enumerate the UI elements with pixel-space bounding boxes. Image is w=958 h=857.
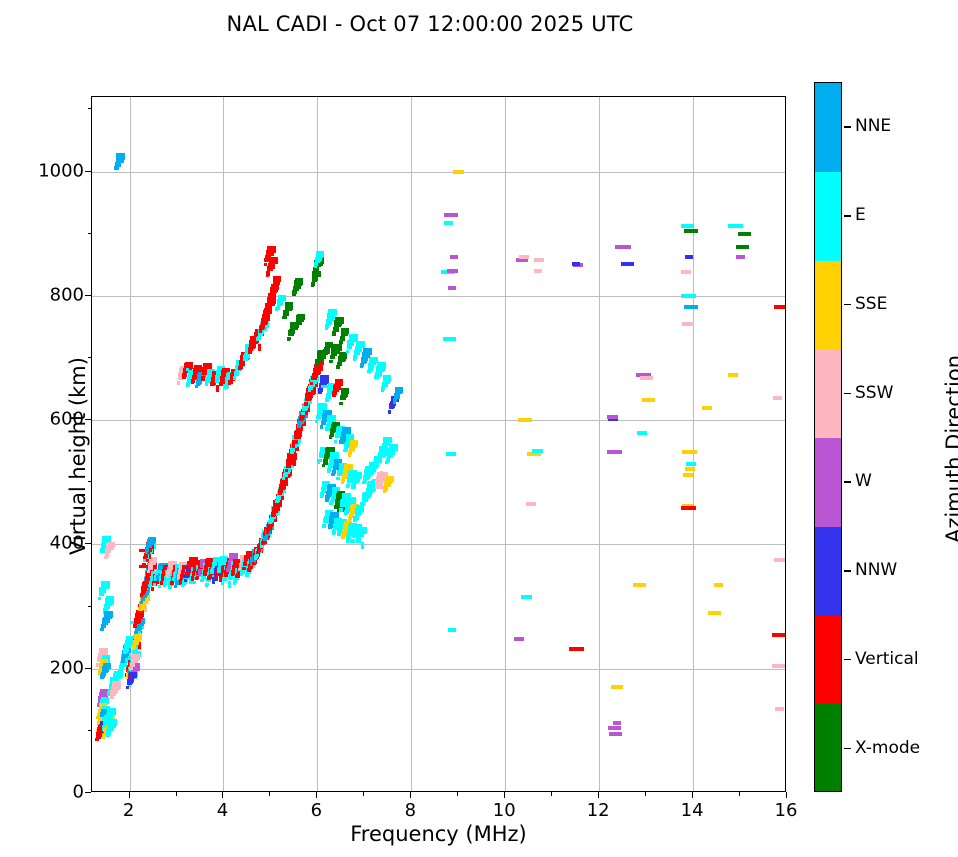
data-point-e	[728, 224, 743, 228]
data-point-e	[353, 518, 357, 522]
data-point-vertical	[135, 613, 143, 619]
data-point-sse	[728, 373, 738, 377]
data-point-nne	[101, 628, 104, 631]
x-tick-minor	[645, 792, 646, 796]
colorbar-tick	[844, 304, 851, 306]
data-point-e	[200, 579, 204, 582]
data-point-e	[337, 532, 341, 536]
data-point-nne	[104, 611, 113, 618]
data-point-e	[372, 468, 376, 471]
data-point-nne	[174, 585, 177, 588]
data-point-e	[388, 448, 395, 454]
data-point-ssw	[774, 558, 785, 562]
y-tick-minor	[88, 108, 92, 109]
data-point-w	[447, 269, 458, 273]
data-point-e	[357, 531, 364, 537]
data-point-vertical	[293, 459, 296, 466]
colorbar-segment-nnw[interactable]	[815, 527, 841, 616]
data-point-e	[254, 555, 258, 559]
data-point-vertical	[229, 380, 233, 384]
data-point-vertical	[271, 291, 274, 294]
gridline-vertical	[505, 97, 506, 791]
x-tick-minor	[363, 792, 364, 796]
data-point-vertical	[258, 344, 261, 351]
data-point-nnw	[129, 672, 137, 678]
data-point-x-mode	[332, 332, 336, 336]
data-point-e	[320, 494, 324, 497]
data-point-ssw	[111, 687, 118, 693]
data-point-e	[681, 294, 696, 298]
data-point-e	[193, 581, 196, 584]
data-point-e	[322, 524, 326, 528]
x-tick-major	[692, 792, 693, 798]
data-point-nne	[140, 601, 143, 604]
data-point-e	[353, 356, 357, 359]
y-tick-major	[85, 668, 91, 669]
data-point-nnw	[621, 262, 634, 266]
colorbar-tick	[844, 215, 851, 217]
colorbar-segment-ssw[interactable]	[815, 349, 841, 438]
y-tick-label: 0	[73, 782, 84, 803]
colorbar-segment-vertical[interactable]	[815, 616, 841, 705]
colorbar-segment-x-mode[interactable]	[815, 704, 841, 792]
gridline-vertical	[317, 97, 318, 791]
data-point-sse	[386, 476, 394, 482]
y-tick-minor	[88, 233, 92, 234]
data-point-e	[244, 354, 249, 359]
colorbar-label-x-mode: X-mode	[855, 738, 920, 758]
data-point-nnw	[184, 579, 187, 582]
colorbar-segment-w[interactable]	[815, 438, 841, 527]
data-point-vertical	[774, 305, 785, 309]
data-point-nne	[325, 498, 329, 502]
data-point-w	[736, 255, 745, 259]
data-point-vertical	[140, 593, 143, 596]
data-point-vertical	[95, 738, 99, 741]
data-point-vertical	[267, 266, 273, 271]
data-point-e	[186, 382, 190, 386]
x-tick-major	[786, 792, 787, 798]
colorbar-segment-e[interactable]	[815, 172, 841, 261]
data-point-e	[330, 500, 334, 504]
data-point-nne	[395, 387, 403, 393]
data-point-sse	[139, 604, 145, 609]
data-point-e	[336, 477, 339, 480]
colorbar-segment-nne[interactable]	[815, 83, 841, 172]
data-point-e	[256, 338, 259, 341]
data-point-x-mode	[339, 402, 342, 405]
data-point-x-mode	[329, 360, 333, 363]
colorbar[interactable]	[814, 82, 842, 792]
data-point-nnw	[126, 686, 129, 689]
data-point-e	[332, 531, 336, 534]
data-point-ssw	[534, 269, 542, 273]
x-tick-label: 6	[311, 800, 322, 821]
data-point-vertical	[274, 505, 278, 509]
data-point-ssw	[534, 258, 544, 262]
colorbar-label-ssw: SSW	[855, 383, 893, 403]
data-point-e	[282, 477, 285, 480]
data-point-vertical	[195, 577, 198, 580]
data-point-nne	[360, 363, 364, 367]
data-point-e	[325, 324, 329, 328]
data-point-e	[346, 484, 350, 487]
data-point-w	[615, 245, 631, 249]
y-tick-minor	[88, 730, 92, 731]
data-point-e	[444, 221, 453, 225]
data-point-e	[386, 460, 389, 463]
data-point-vertical	[216, 385, 219, 392]
data-point-vertical	[247, 568, 251, 572]
data-point-vertical	[182, 375, 186, 379]
data-point-ssw	[526, 502, 536, 506]
data-point-e	[347, 345, 352, 349]
data-point-vertical	[144, 555, 148, 558]
data-point-nne	[102, 668, 108, 673]
x-tick-minor	[551, 792, 552, 796]
data-point-e	[233, 377, 236, 380]
colorbar-tick	[844, 570, 851, 572]
data-point-nnw	[128, 679, 133, 684]
data-point-x-mode	[341, 330, 348, 336]
data-point-e	[99, 587, 106, 592]
data-point-vertical	[280, 482, 284, 486]
data-point-x-mode	[336, 365, 340, 369]
data-point-sse	[642, 398, 655, 402]
gridline-vertical	[693, 97, 694, 791]
data-point-e	[637, 431, 647, 435]
colorbar-label-sse: SSE	[855, 294, 887, 314]
x-tick-major	[410, 792, 411, 798]
data-point-e	[346, 350, 349, 353]
data-point-e	[233, 581, 236, 584]
y-tick-major	[85, 792, 91, 793]
data-point-x-mode	[339, 353, 347, 359]
x-tick-major	[598, 792, 599, 798]
data-point-sse	[682, 450, 697, 454]
data-point-x-mode	[312, 273, 315, 276]
data-point-sse	[349, 448, 354, 452]
data-point-vertical	[239, 360, 245, 365]
data-point-e	[316, 415, 321, 419]
data-point-e	[443, 337, 456, 341]
data-point-e	[276, 497, 280, 501]
data-point-nne	[100, 674, 105, 678]
data-point-e	[686, 462, 696, 466]
colorbar-label-e: E	[855, 205, 866, 225]
data-point-e	[99, 592, 104, 596]
data-point-vertical	[207, 576, 211, 580]
data-point-vertical	[272, 285, 277, 289]
data-point-nne	[116, 155, 124, 161]
data-point-nne	[394, 394, 400, 399]
data-point-e	[334, 440, 337, 443]
data-point-e	[302, 406, 307, 411]
data-point-e	[351, 484, 356, 488]
data-point-vertical	[133, 624, 137, 628]
y-tick-major	[85, 171, 91, 172]
data-point-e	[328, 309, 337, 316]
x-tick-minor	[269, 792, 270, 796]
data-point-e	[290, 448, 294, 452]
data-point-nne	[331, 473, 334, 476]
data-point-vertical	[287, 461, 290, 464]
gridline-horizontal	[92, 669, 785, 670]
data-point-sse	[384, 482, 390, 487]
data-point-e	[368, 363, 374, 368]
data-point-vertical	[264, 311, 268, 315]
data-point-vertical	[294, 435, 297, 438]
data-point-e	[362, 481, 366, 484]
data-point-x-mode	[294, 280, 302, 286]
data-point-nne	[684, 305, 698, 309]
y-tick-label: 200	[50, 657, 84, 678]
data-point-x-mode	[334, 320, 342, 326]
data-point-nne	[363, 348, 372, 355]
data-point-x-mode	[334, 505, 338, 509]
y-tick-label: 1000	[38, 160, 84, 181]
data-point-vertical	[238, 366, 242, 370]
data-point-vertical	[285, 469, 288, 472]
data-point-vertical	[96, 732, 102, 737]
data-point-sse	[453, 170, 464, 174]
data-point-e	[383, 377, 390, 383]
data-point-w	[607, 450, 622, 454]
data-point-e	[360, 506, 363, 509]
y-axis-title: Virtual height (km)	[66, 296, 90, 616]
data-point-ssw	[105, 553, 109, 557]
data-point-nnw	[212, 581, 215, 584]
x-tick-label: 16	[775, 800, 798, 821]
data-point-w	[609, 732, 622, 736]
data-point-nnw	[318, 390, 322, 394]
x-tick-label: 8	[405, 800, 416, 821]
x-tick-major	[129, 792, 130, 798]
data-point-ssw	[773, 396, 782, 400]
data-point-vertical	[214, 575, 218, 578]
data-point-ssw	[682, 322, 694, 326]
data-point-vertical	[333, 391, 337, 395]
data-point-vertical	[264, 263, 267, 266]
data-point-x-mode	[322, 464, 325, 467]
data-point-e	[228, 581, 231, 588]
data-point-x-mode	[282, 316, 286, 319]
data-point-e	[346, 537, 350, 541]
data-point-sse	[518, 418, 532, 422]
data-point-e	[356, 539, 361, 543]
data-point-vertical	[310, 382, 313, 385]
data-point-e	[234, 371, 239, 375]
gridline-vertical	[599, 97, 600, 791]
data-point-e	[355, 511, 361, 516]
data-point-vertical	[261, 322, 264, 325]
data-point-nnw	[685, 255, 693, 259]
data-point-e	[350, 540, 354, 543]
data-point-e	[106, 733, 110, 737]
data-point-e	[224, 386, 228, 389]
data-point-nne	[115, 162, 121, 167]
data-point-e	[222, 577, 227, 581]
colorbar-label-w: W	[855, 471, 872, 491]
data-point-nne	[393, 401, 396, 404]
data-point-nnw	[388, 410, 391, 413]
data-point-w	[450, 255, 458, 259]
data-point-e	[308, 389, 311, 392]
data-point-e	[168, 585, 172, 589]
data-point-vertical	[141, 589, 146, 593]
data-point-ssw	[148, 563, 153, 568]
data-point-e	[365, 495, 369, 499]
gridline-horizontal	[92, 172, 785, 173]
data-point-sse	[611, 685, 623, 689]
data-point-vertical	[201, 377, 205, 381]
x-tick-label: 14	[681, 800, 704, 821]
data-point-e	[100, 548, 105, 552]
colorbar-tick	[844, 126, 851, 128]
colorbar-label-nnw: NNW	[855, 560, 897, 580]
colorbar-title: Azimuth Direction	[942, 279, 958, 619]
data-point-w	[607, 415, 618, 419]
data-point-ssw	[131, 655, 139, 661]
data-point-x-mode	[297, 314, 305, 320]
data-point-x-mode	[311, 282, 315, 286]
page-title: NAL CADI - Oct 07 12:00:00 2025 UTC	[0, 12, 860, 36]
colorbar-tick	[844, 659, 851, 661]
data-point-e	[268, 520, 272, 524]
data-point-e	[376, 371, 382, 376]
data-point-e	[374, 375, 379, 379]
data-point-e	[448, 628, 456, 632]
colorbar-segment-sse[interactable]	[815, 261, 841, 350]
data-point-e	[123, 650, 127, 654]
data-point-e	[367, 370, 371, 373]
data-point-w	[608, 726, 621, 730]
data-point-x-mode	[293, 286, 299, 291]
data-point-vertical	[266, 273, 270, 276]
x-tick-label: 12	[587, 800, 610, 821]
data-point-vertical	[138, 642, 141, 649]
data-point-e	[158, 585, 161, 588]
data-point-vertical	[300, 416, 304, 420]
data-point-vertical	[681, 506, 696, 510]
data-point-vertical	[273, 278, 280, 284]
data-point-vertical	[772, 633, 785, 637]
data-point-e	[532, 449, 543, 453]
data-point-vertical	[266, 528, 270, 532]
data-point-vertical	[236, 574, 240, 578]
data-point-ssw	[106, 543, 114, 549]
colorbar-tick	[844, 481, 851, 483]
data-point-nnw	[320, 375, 329, 382]
data-point-x-mode	[738, 232, 751, 236]
data-point-ssw	[640, 376, 653, 380]
data-point-nne	[134, 631, 138, 634]
data-point-sse	[383, 490, 386, 493]
colorbar-label-nne: NNE	[855, 116, 891, 136]
data-point-e	[376, 463, 379, 466]
data-point-nne	[145, 551, 148, 554]
gridline-vertical	[411, 97, 412, 791]
data-point-nne	[146, 543, 152, 548]
data-point-e	[98, 597, 101, 600]
data-point-e	[283, 473, 288, 477]
data-point-nnw	[572, 262, 580, 266]
data-point-x-mode	[684, 229, 698, 233]
data-point-sse	[708, 611, 721, 615]
data-point-vertical	[170, 581, 174, 585]
data-point-e	[163, 583, 167, 586]
data-point-vertical	[145, 576, 149, 580]
data-point-sse	[685, 467, 695, 471]
data-point-e	[275, 307, 279, 310]
data-point-e	[106, 596, 114, 603]
data-point-sse	[702, 406, 712, 410]
data-point-vertical	[569, 647, 584, 651]
data-point-vertical	[266, 307, 269, 310]
data-point-vertical	[191, 381, 194, 384]
gridline-horizontal	[92, 420, 785, 421]
data-point-vertical	[313, 370, 317, 374]
data-point-nne	[361, 358, 367, 363]
data-point-e	[143, 559, 146, 562]
data-point-x-mode	[322, 355, 326, 359]
data-point-vertical	[264, 258, 269, 262]
data-point-nne	[320, 426, 323, 429]
data-point-x-mode	[315, 363, 319, 366]
data-point-x-mode	[339, 342, 342, 345]
data-point-nne	[148, 537, 156, 543]
data-point-e	[205, 584, 208, 587]
data-point-ssw	[379, 486, 382, 489]
data-point-vertical	[151, 587, 154, 590]
data-point-e	[381, 451, 384, 454]
data-point-e	[314, 265, 317, 268]
data-point-e	[354, 350, 360, 355]
data-point-e	[352, 477, 359, 483]
data-point-vertical	[304, 402, 308, 406]
data-point-nne	[121, 657, 125, 661]
data-point-e	[327, 470, 330, 473]
data-point-vertical	[219, 382, 223, 386]
plot-area[interactable]	[91, 96, 786, 792]
data-point-vertical	[259, 330, 262, 333]
data-point-x-mode	[290, 322, 298, 329]
data-point-nnw	[389, 403, 395, 408]
data-point-x-mode	[287, 338, 290, 341]
data-point-vertical	[286, 464, 291, 468]
gridline-horizontal	[92, 544, 785, 545]
data-point-w	[514, 637, 524, 641]
data-point-vertical	[295, 431, 300, 435]
data-point-e	[240, 570, 244, 574]
data-point-e	[381, 386, 385, 390]
x-tick-major	[316, 792, 317, 798]
data-point-vertical	[263, 315, 266, 318]
data-point-x-mode	[312, 276, 318, 281]
data-point-vertical	[256, 551, 260, 554]
data-point-vertical	[224, 572, 228, 576]
data-point-e	[317, 459, 321, 462]
data-point-e	[118, 669, 122, 673]
data-point-ssw	[772, 664, 785, 668]
data-point-x-mode	[341, 391, 348, 397]
data-point-e	[315, 420, 318, 423]
data-point-w	[448, 286, 456, 290]
data-point-e	[205, 383, 208, 386]
data-point-nne	[297, 422, 302, 426]
x-tick-major	[222, 792, 223, 798]
data-point-nne	[195, 385, 198, 388]
